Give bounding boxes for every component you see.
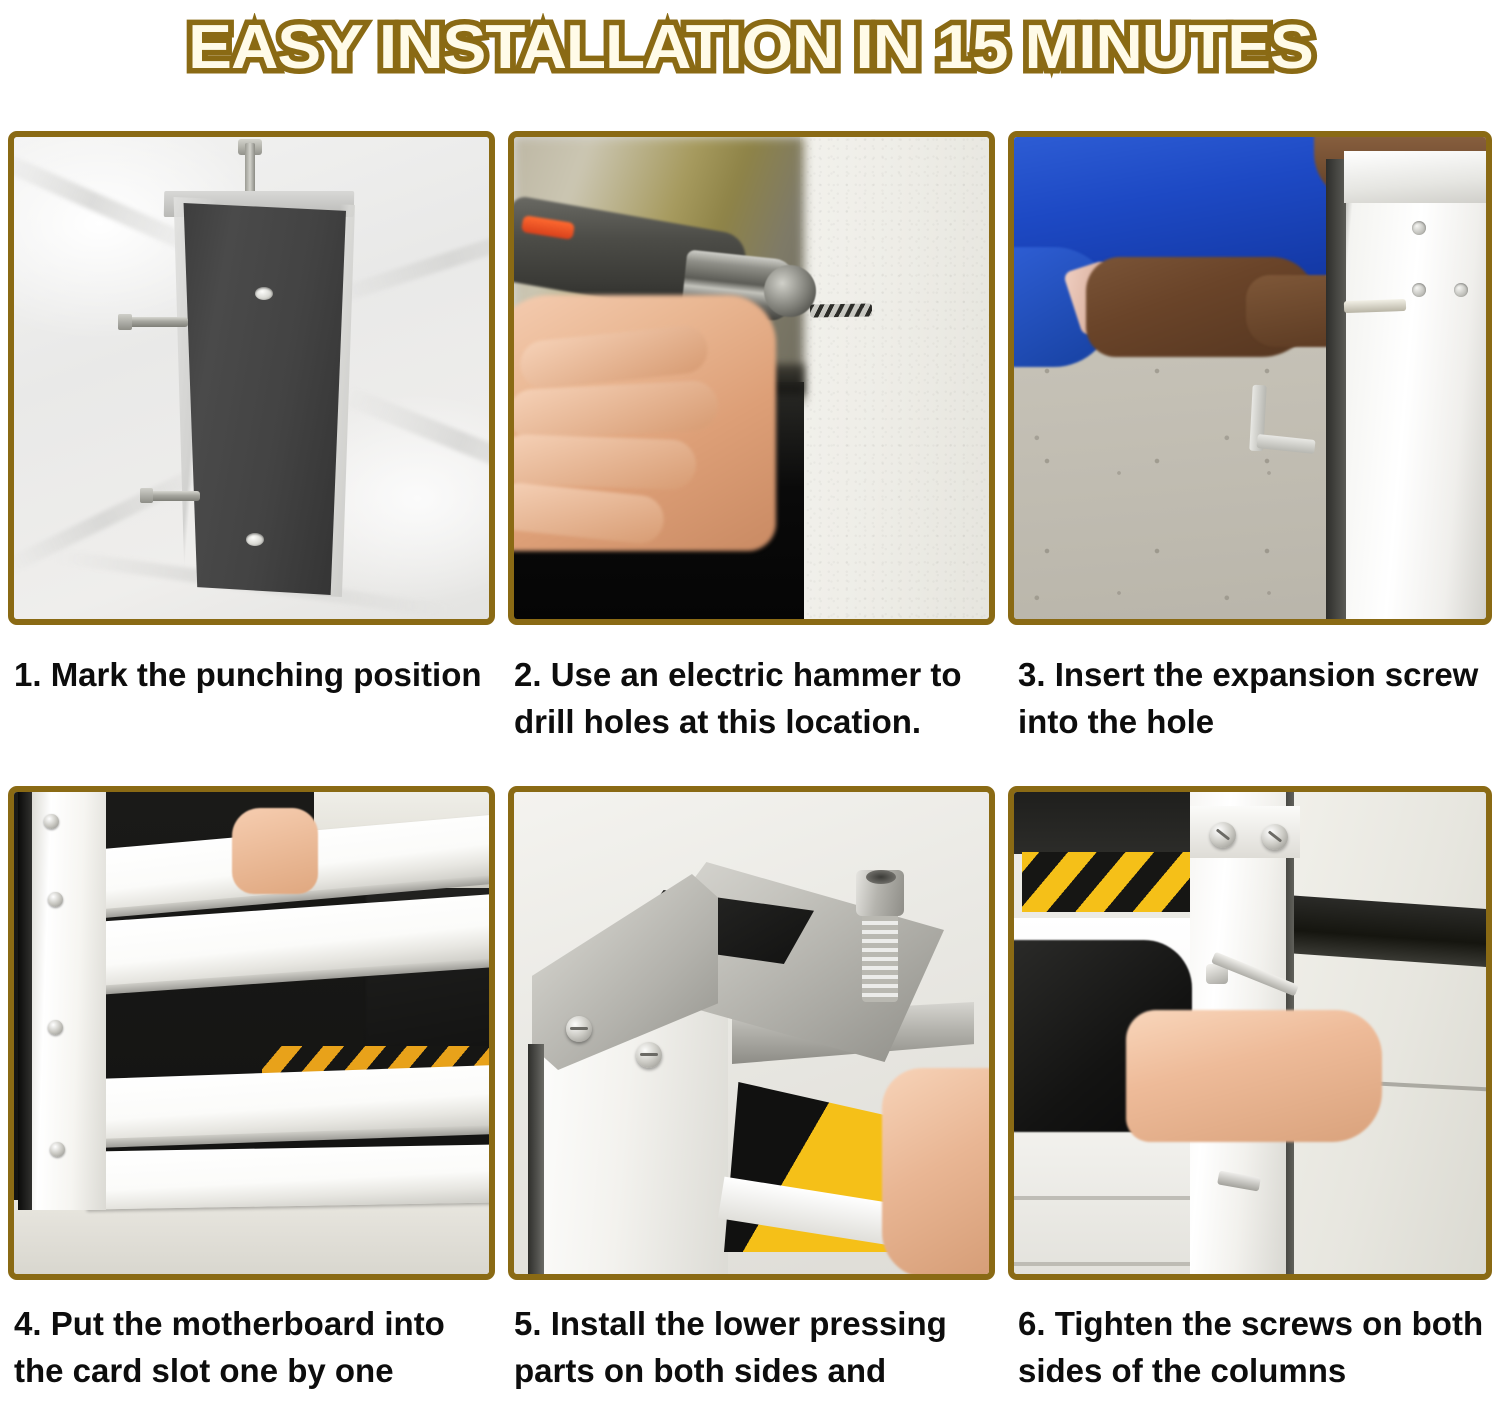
photo-5-lower-pressing-part: [514, 792, 989, 1274]
floor-surface: [14, 1200, 489, 1274]
photo-2-drilling-wall: [514, 137, 989, 619]
caption-step-1: 1. Mark the punching position: [8, 639, 495, 786]
bracket-screw-2: [636, 1042, 662, 1068]
photo-4-motherboard-card-slot: [14, 792, 489, 1274]
photo-frame-5: [508, 786, 995, 1280]
step-photo-3: [1008, 131, 1492, 625]
photo-frame-4: [8, 786, 495, 1280]
pressing-bolt-socket: [866, 870, 896, 884]
caption-step-6: 6. Tighten the screws on both sides of t…: [1008, 1288, 1492, 1393]
caption-step-2: 2. Use an electric hammer to drill holes…: [508, 639, 995, 786]
post-screw-4: [44, 814, 59, 829]
page-title: EASY INSTALLATION IN 15 MINUTES: [188, 13, 1313, 83]
post-screw-3: [50, 1142, 65, 1157]
protruding-bolt-head-upper: [118, 314, 132, 330]
caption-step-4: 4. Put the motherboard into the card slo…: [8, 1288, 495, 1393]
white-column: [1326, 159, 1486, 619]
column-screw-1: [1412, 221, 1426, 235]
step-photo-5: [508, 786, 995, 1280]
steps-grid: 1. Mark the punching position 2. Use an …: [8, 131, 1492, 1393]
column-screw-2: [1454, 283, 1468, 297]
white-post-with-card-slot: [32, 792, 106, 1210]
header-banner: EASY INSTALLATION IN 15 MINUTES: [0, 0, 1500, 96]
pressing-bolt-shank: [862, 908, 898, 1002]
hand-tightening: [1126, 1010, 1382, 1142]
hazard-stripe-tape: [1022, 852, 1190, 912]
dark-upper-gap: [1014, 792, 1194, 854]
expansion-screw: [1344, 299, 1406, 313]
photo-frame-1: [8, 131, 495, 625]
step-photo-2: [508, 131, 995, 625]
photo-frame-6: [1008, 786, 1492, 1280]
board-fourth: [86, 1144, 489, 1209]
column-top-bracket: [1344, 151, 1486, 203]
top-bolt-shank: [245, 143, 255, 195]
photo-3-insert-expansion-screw: [1014, 137, 1486, 619]
photo-frame-2: [508, 131, 995, 625]
bracket-screw-1: [566, 1016, 592, 1042]
photo-frame-3: [1008, 131, 1492, 625]
column-shadow: [528, 1044, 544, 1274]
column-screw-3: [1412, 283, 1426, 297]
drill-chuck: [764, 265, 816, 317]
row-gap-spacer: [8, 625, 1492, 639]
hand-supporting-part: [882, 1068, 989, 1274]
photo-1-marked-column: [14, 137, 489, 619]
panel-seam-3: [1014, 1262, 1194, 1266]
infographic-page: EASY INSTALLATION IN 15 MINUTES: [0, 0, 1500, 1403]
step-photo-1: [8, 131, 495, 625]
panel-seam-2: [1014, 1196, 1194, 1200]
protruding-bolt-head-lower: [140, 488, 153, 503]
step-photo-4: [8, 786, 495, 1280]
drill-bit: [810, 303, 872, 317]
white-textured-wall: [800, 137, 989, 619]
post-screw-2: [48, 1020, 63, 1035]
column-dark-channel: [1326, 159, 1346, 619]
column-screw-top-right: [1262, 824, 1288, 850]
caption-step-3: 3. Insert the expansion screw into the h…: [1008, 639, 1492, 786]
post-screw-1: [48, 892, 63, 907]
mark-hole-lower: [246, 533, 264, 546]
hand-placing-board: [232, 808, 318, 894]
finger: [514, 434, 697, 491]
mark-hole-upper: [255, 287, 273, 300]
photo-6-tighten-column-screws: [1014, 792, 1486, 1274]
column-screw-top-left: [1210, 822, 1236, 848]
step-photo-6: [1008, 786, 1492, 1280]
row-gap-spacer-2: [8, 1280, 1492, 1288]
caption-step-5: 5. Install the lower pressing parts on b…: [508, 1288, 995, 1393]
